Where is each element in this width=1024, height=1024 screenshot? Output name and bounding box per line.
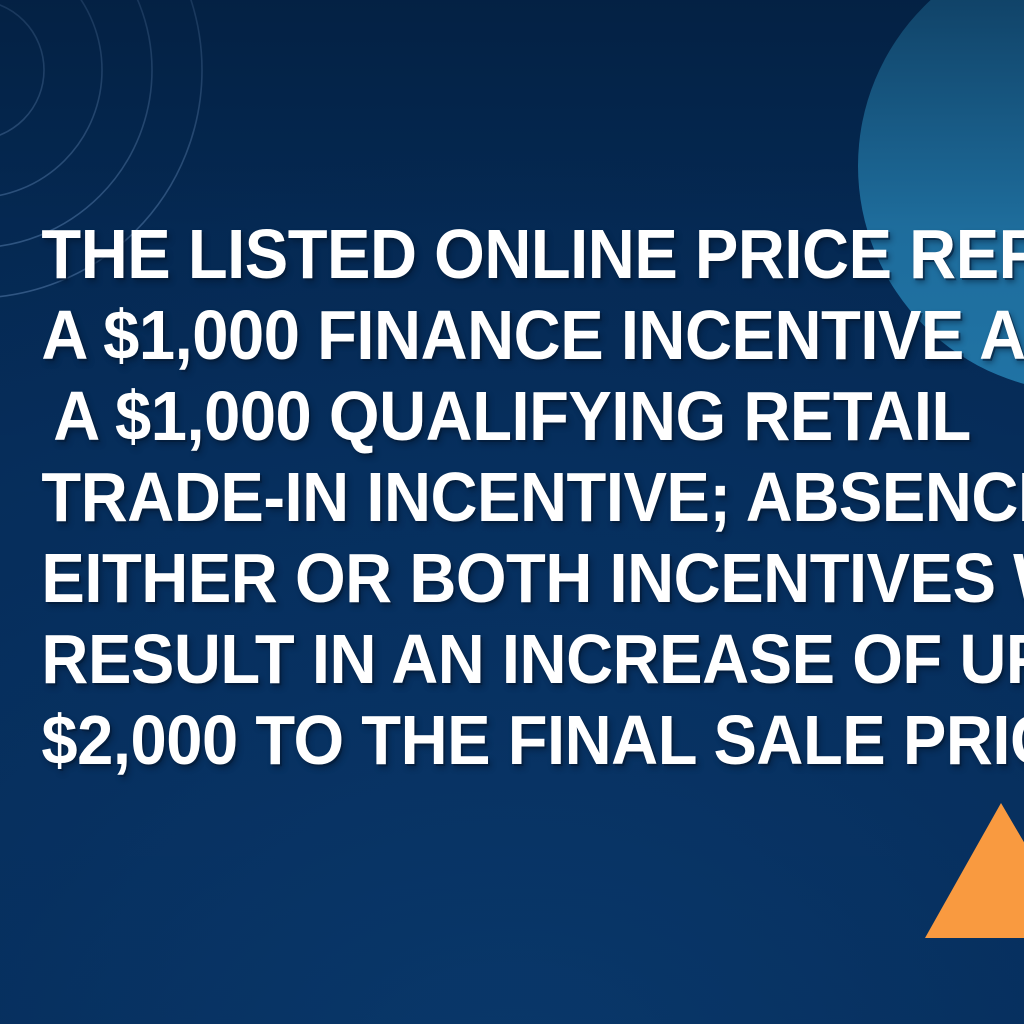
headline-block: THE LISTED ONLINE PRICE REFLECTS A $1,00… xyxy=(0,214,1024,781)
promo-graphic-canvas: THE LISTED ONLINE PRICE REFLECTS A $1,00… xyxy=(0,0,1024,1024)
headline-line-7: $2,000 TO THE FINAL SALE PRICE. xyxy=(41,700,982,781)
headline-line-2: A $1,000 FINANCE INCENTIVE AND xyxy=(41,295,982,376)
headline-line-3: A $1,000 QUALIFYING RETAIL xyxy=(41,376,982,457)
headline-line-1: THE LISTED ONLINE PRICE REFLECTS xyxy=(41,214,982,295)
headline-line-4: TRADE-IN INCENTIVE; ABSENCE OF xyxy=(41,457,982,538)
headline-line-6: RESULT IN AN INCREASE OF UP TO xyxy=(41,619,982,700)
headline-line-5: EITHER OR BOTH INCENTIVES WILL xyxy=(41,538,982,619)
